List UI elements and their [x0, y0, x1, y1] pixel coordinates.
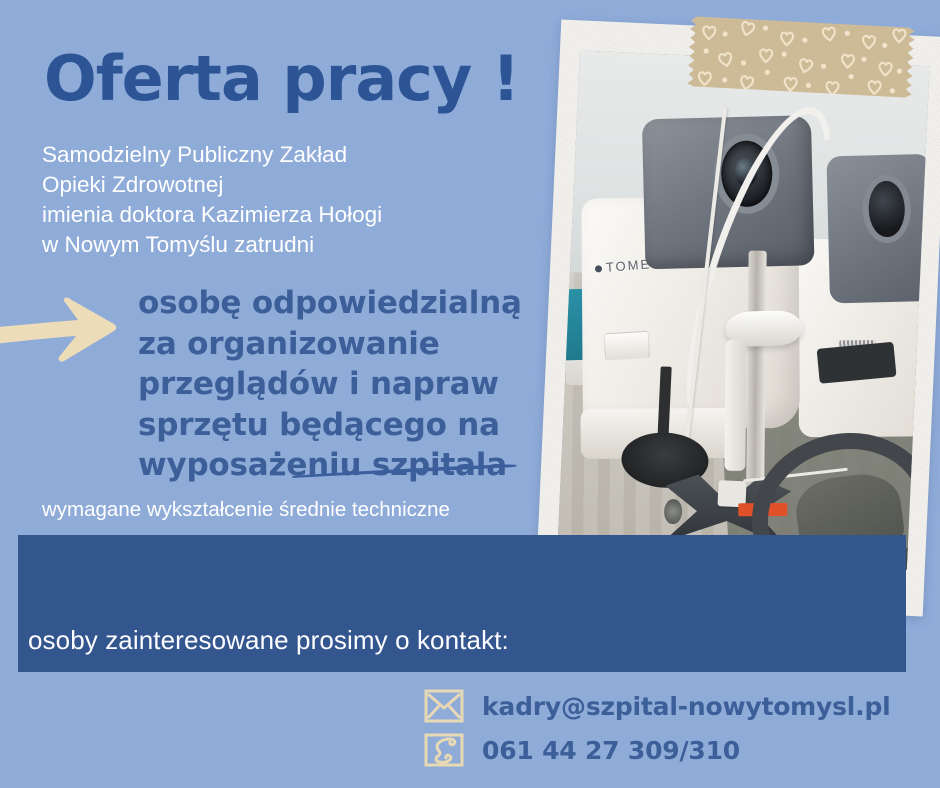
job-offer-poster: TOMEY: [0, 0, 940, 788]
phone-icon: [424, 733, 464, 767]
email-address[interactable]: kadry@szpital-nowytomysl.pl: [482, 692, 891, 721]
phone-number[interactable]: 061 44 27 309/310: [482, 736, 740, 765]
contact-row-email[interactable]: kadry@szpital-nowytomysl.pl: [424, 684, 891, 728]
envelope-icon: [424, 689, 464, 723]
page-title: Oferta pracy !: [44, 48, 519, 110]
scene-arm: [724, 340, 746, 471]
washi-tape-decoration: [692, 16, 909, 97]
job-headline: osobę odpowiedzialną za organizowanie pr…: [138, 283, 538, 486]
arrow-right-icon: [0, 288, 122, 366]
contact-row-phone[interactable]: 061 44 27 309/310: [424, 728, 891, 772]
brush-underline: [290, 462, 518, 480]
second-device-lens: [869, 181, 906, 238]
tomey-device-slot: [603, 331, 650, 361]
job-requirement: wymagane wykształcenie średnie techniczn…: [42, 498, 450, 522]
photo-image: TOMEY: [557, 50, 930, 569]
photo-polaroid: TOMEY: [535, 19, 940, 616]
phone-icon-svg: [424, 733, 464, 767]
envelope-icon-svg: [424, 689, 464, 723]
contact-heading: osoby zainteresowane prosimy o kontakt:: [28, 625, 509, 656]
contact-list: kadry@szpital-nowytomysl.pl 061 44 27 30…: [424, 684, 891, 772]
clinic-scene: TOMEY: [557, 50, 930, 569]
scene-pole: [746, 250, 766, 502]
tomey-logo-dot: [595, 265, 603, 273]
brush-underline-svg: [290, 462, 518, 480]
organization-name: Samodzielny Publiczny Zakład Opieki Zdro…: [42, 140, 382, 260]
stand-castor: [664, 498, 683, 524]
second-device-head: [827, 154, 930, 303]
tape-hearts-pattern: [692, 16, 909, 97]
arrow-svg: [0, 288, 122, 366]
